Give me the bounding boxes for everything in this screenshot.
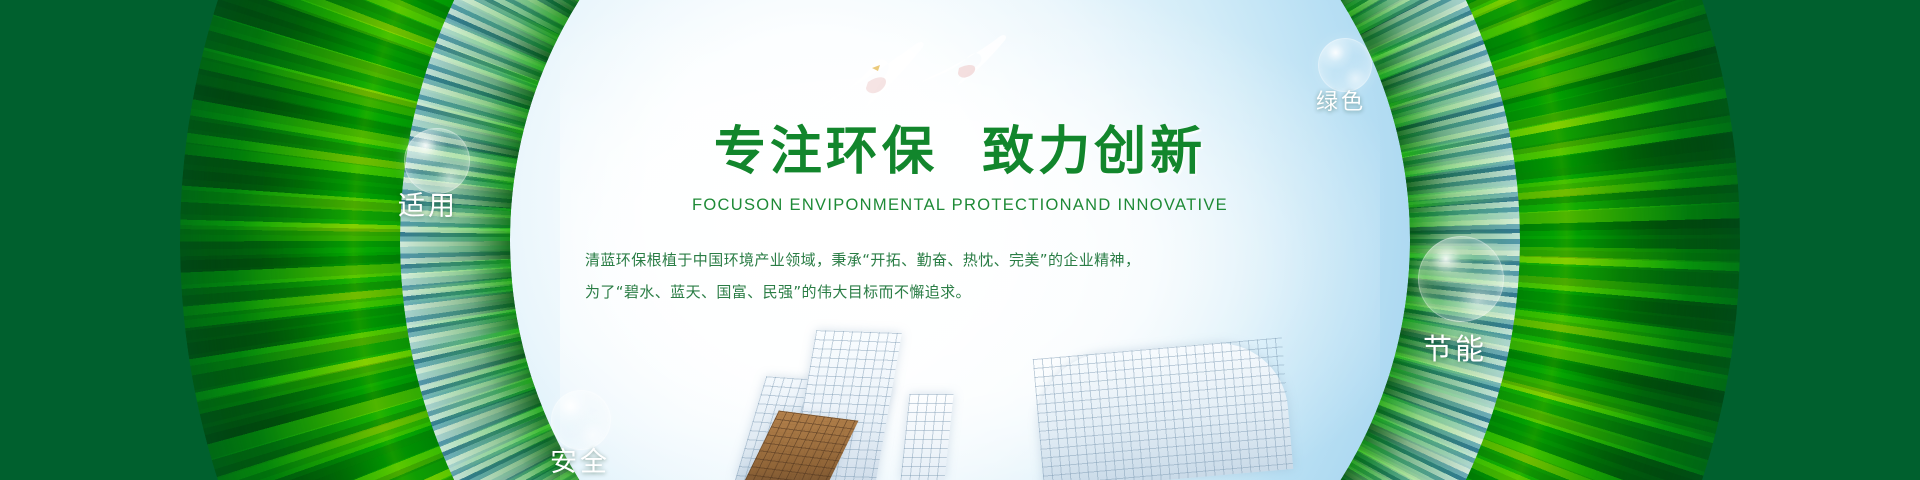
hero-banner: 适用 安全 绿色 节能 专注环保 致力创新 FOCUSON ENVIPONMEN…: [0, 0, 1920, 480]
building-curved-tower: [1033, 337, 1294, 480]
description-line-1: 清蓝环保根植于中国环境产业领域，秉承“开拓、勤奋、热忱、完美”的企业精神，: [585, 244, 1345, 276]
description-line-2: 为了“碧水、蓝天、国富、民强”的伟大目标而不懈追求。: [585, 276, 1345, 308]
keyword-label: 节能: [1423, 326, 1487, 368]
seagull-icon-left: [810, 38, 930, 112]
bubble-icon: [1418, 236, 1504, 322]
building-slim-tower: [900, 394, 953, 480]
description-paragraph: 清蓝环保根植于中国环境产业领域，秉承“开拓、勤奋、热忱、完美”的企业精神， 为了…: [585, 244, 1345, 308]
building-window-grid: [1033, 337, 1294, 480]
seagull-icon-right: [915, 28, 1011, 90]
building-window-grid: [900, 394, 953, 480]
subheadline: FOCUSON ENVIPONMENTAL PROTECTIONAND INNO…: [0, 196, 1920, 215]
keyword-label: 安全: [550, 440, 610, 479]
keyword-label: 绿色: [1316, 84, 1366, 116]
headline: 专注环保 致力创新: [0, 126, 1920, 178]
